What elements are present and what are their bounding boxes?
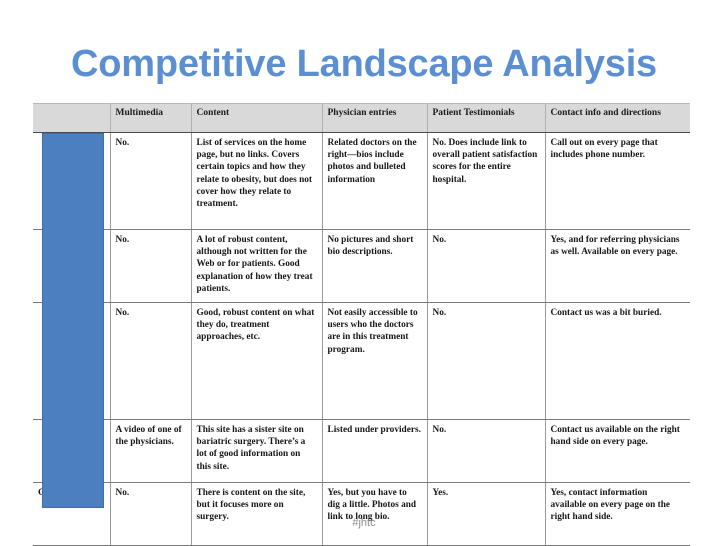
competitive-landscape-table: Multimedia Content Physician entries Pat… (33, 103, 690, 546)
cell-contact-info: Yes, contact information available on ev… (545, 483, 690, 546)
cell-physician-entries: No pictures and short bio descriptions. (322, 230, 427, 303)
cell-patient-testimonials: No. (427, 230, 545, 303)
cell-contact-info: Call out on every page that includes pho… (545, 133, 690, 230)
blue-redaction-box (42, 133, 104, 508)
cell-patient-testimonials: No. Does include link to overall patient… (427, 133, 545, 230)
table-header-multimedia: Multimedia (110, 104, 191, 133)
cell-contact-info: Contact us was a bit buried. (545, 303, 690, 420)
table-header-content: Content (191, 104, 322, 133)
comparison-table: Multimedia Content Physician entries Pat… (33, 103, 690, 546)
slide-footer: #jhtc (0, 517, 728, 529)
cell-patient-testimonials: No. (427, 303, 545, 420)
cell-contact-info: Contact us available on the right hand s… (545, 420, 690, 483)
table-header-row: Multimedia Content Physician entries Pat… (33, 104, 690, 133)
cell-content: There is content on the site, but it foc… (191, 483, 322, 546)
table-row: A video of one of the physicians. This s… (33, 420, 690, 483)
cell-multimedia: No. (110, 483, 191, 546)
cell-physician-entries: Yes, but you have to dig a little. Photo… (322, 483, 427, 546)
table-row: No. A lot of robust content, although no… (33, 230, 690, 303)
cell-multimedia: No. (110, 303, 191, 420)
table-header-organization (33, 104, 110, 133)
page-title: Competitive Landscape Analysis (0, 42, 728, 86)
table-row: No. List of services on the home page, b… (33, 133, 690, 230)
table-row: Center No. There is content on the site,… (33, 483, 690, 546)
table-header-patient-testimonials: Patient Testimonials (427, 104, 545, 133)
cell-patient-testimonials: No. (427, 420, 545, 483)
cell-multimedia: No. (110, 230, 191, 303)
cell-contact-info: Yes, and for referring physicians as wel… (545, 230, 690, 303)
cell-multimedia: A video of one of the physicians. (110, 420, 191, 483)
cell-physician-entries: Related doctors on the right—bios includ… (322, 133, 427, 230)
cell-physician-entries: Not easily accessible to users who the d… (322, 303, 427, 420)
cell-content: Good, robust content on what they do, tr… (191, 303, 322, 420)
cell-content: A lot of robust content, although not wr… (191, 230, 322, 303)
cell-content: This site has a sister site on bariatric… (191, 420, 322, 483)
table-header-contact-info: Contact info and directions (545, 104, 690, 133)
cell-multimedia: No. (110, 133, 191, 230)
table-row: No. Good, robust content on what they do… (33, 303, 690, 420)
cell-patient-testimonials: Yes. (427, 483, 545, 546)
table-header-physician-entries: Physician entries (322, 104, 427, 133)
cell-content: List of services on the home page, but n… (191, 133, 322, 230)
cell-physician-entries: Listed under providers. (322, 420, 427, 483)
